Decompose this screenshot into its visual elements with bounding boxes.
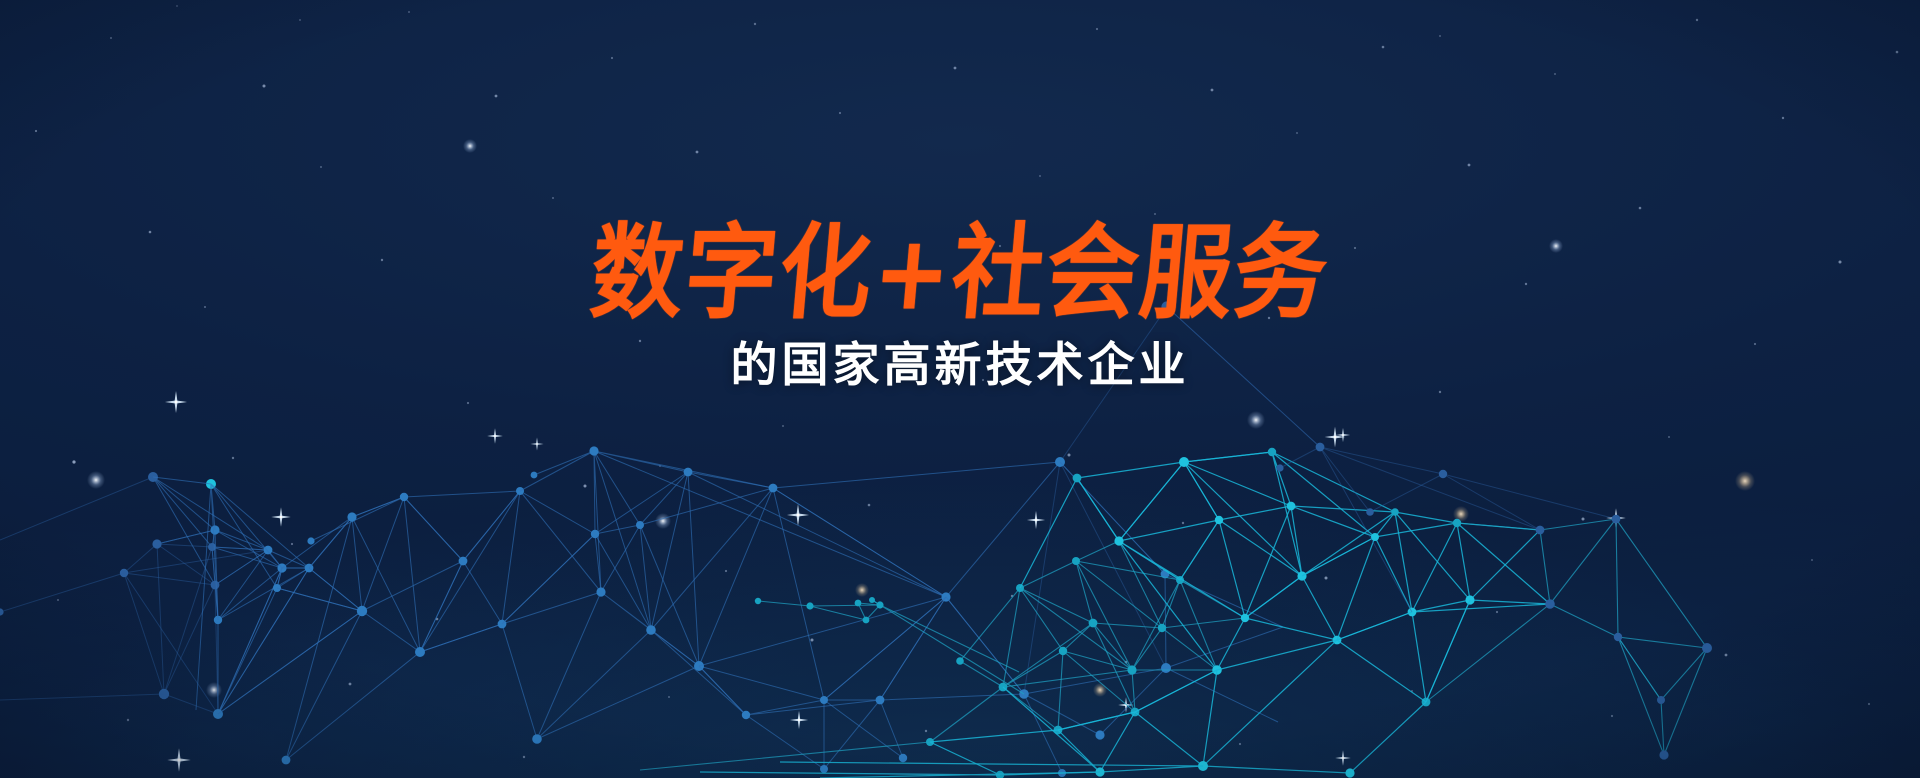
polygon-network-spur [755,597,1024,694]
polygon-network-right [640,448,1712,778]
polygon-network-bridge [699,462,1283,777]
page-title: 数字化+社会服务 [0,222,1920,325]
polygon-network-left-edge [0,477,164,700]
hero-banner: .e { stroke:#2E6FB7; stroke-width:1; fil… [0,0,1920,778]
page-subtitle: 的国家高新技术企业 [0,338,1920,394]
